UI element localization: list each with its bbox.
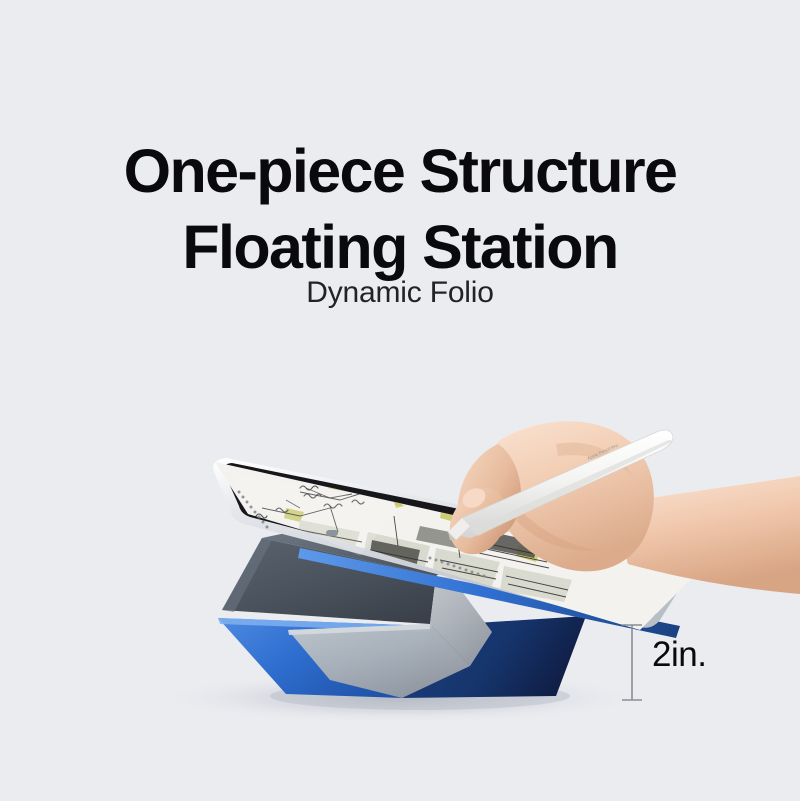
- marketing-slide: One-piece StructureFloating Station Dyna…: [0, 0, 800, 801]
- dimension-line: [622, 625, 642, 700]
- page-subtitle: Dynamic Folio: [0, 274, 800, 312]
- headline-line-1: One-piece Structure: [124, 137, 677, 205]
- page-title: One-piece StructureFloating Station: [0, 133, 800, 285]
- folio-magnet-notch: [326, 530, 338, 536]
- dimension-callout: 2in.: [612, 612, 742, 712]
- dimension-label: 2in.: [652, 634, 706, 676]
